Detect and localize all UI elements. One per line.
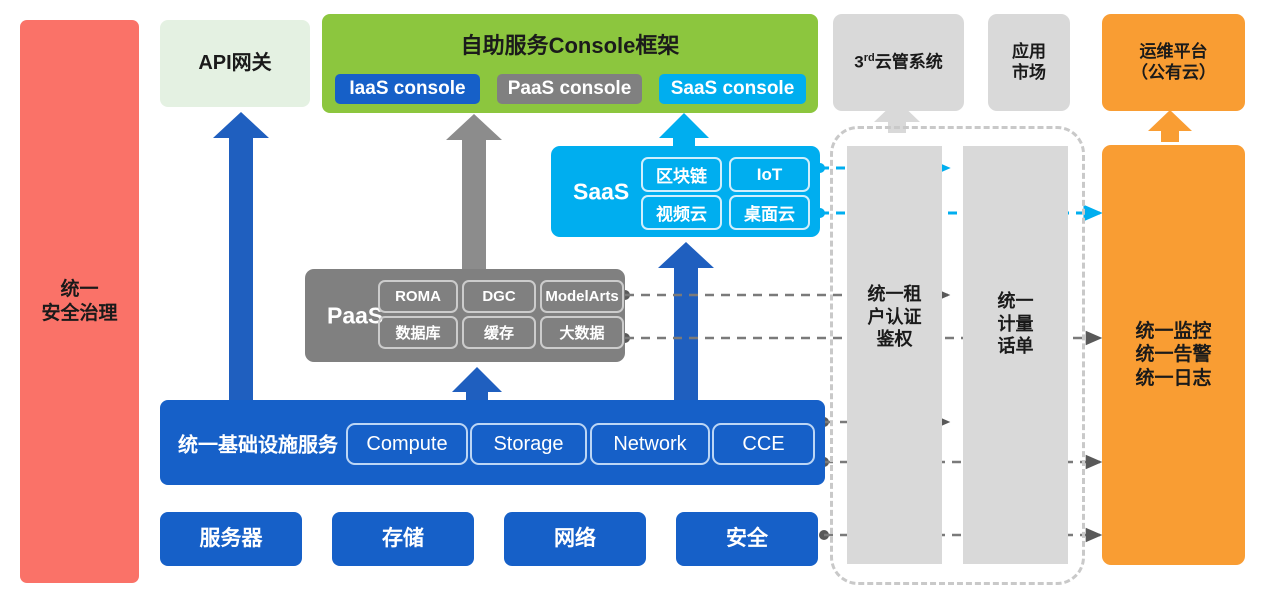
third-party-prefix: 3: [854, 52, 863, 71]
resource-box-network[interactable]: 网络: [504, 512, 646, 566]
app-market-line2: 市场: [1012, 63, 1046, 84]
arrow-saas-to-console: [659, 113, 709, 148]
saas-chip-video-cloud-label: 视频云: [656, 200, 707, 225]
app-market-box[interactable]: 应用 市场: [988, 14, 1070, 111]
infra-chip-storage-label: Storage: [493, 433, 563, 456]
paas-chip-modelarts-label: ModelArts: [545, 288, 618, 305]
unified-metering-line1: 统一: [963, 290, 1068, 313]
paas-chip-database-label: 数据库: [395, 322, 440, 343]
unified-infrastructure-label: 统一基础设施服务: [178, 428, 338, 457]
arrow-infra-to-saas: [658, 242, 714, 405]
paas-chip-database[interactable]: 数据库: [378, 316, 458, 349]
third-party-suffix: 云管系统: [875, 52, 943, 71]
resource-box-server[interactable]: 服务器: [160, 512, 302, 566]
self-service-console-frame: 自助服务Console框架 IaaS console PaaS console …: [322, 14, 818, 113]
ops-platform-line1: 运维平台: [1140, 42, 1208, 63]
iaas-console-label: IaaS console: [349, 78, 465, 100]
security-governance-line1: 统一: [60, 278, 98, 301]
saas-chip-iot[interactable]: IoT: [729, 157, 810, 192]
saas-chip-video-cloud[interactable]: 视频云: [641, 195, 722, 230]
unified-tenant-auth-line1: 统一租: [847, 283, 942, 306]
resource-server-label: 服务器: [200, 526, 263, 552]
saas-chip-blockchain[interactable]: 区块链: [641, 157, 722, 192]
unified-ops-column[interactable]: 统一监控 统一告警 统一日志: [1102, 145, 1245, 565]
paas-console-label: PaaS console: [508, 78, 632, 100]
paas-layer-label: PaaS: [327, 302, 383, 329]
paas-chip-roma-label: ROMA: [395, 288, 441, 305]
resource-box-storage[interactable]: 存储: [332, 512, 474, 566]
unified-ops-line2: 统一告警: [1135, 343, 1211, 366]
paas-console-pill[interactable]: PaaS console: [497, 74, 642, 104]
app-market-line1: 应用: [1012, 42, 1046, 63]
infra-chip-cce-label: CCE: [742, 433, 784, 456]
arrow-infra-to-apigw: [213, 112, 269, 405]
saas-console-label: SaaS console: [671, 78, 795, 100]
api-gateway-label: API网关: [198, 51, 271, 75]
saas-layer-label: SaaS: [573, 178, 629, 205]
infra-chip-compute[interactable]: Compute: [346, 423, 468, 465]
architecture-diagram: 统一 安全治理 API网关 自助服务Console框架 IaaS console…: [0, 0, 1265, 605]
unified-tenant-auth-line2: 户认证: [847, 306, 942, 329]
paas-chip-dgc[interactable]: DGC: [462, 280, 536, 313]
paas-chip-roma[interactable]: ROMA: [378, 280, 458, 313]
paas-chip-modelarts[interactable]: ModelArts: [540, 280, 624, 313]
saas-console-pill[interactable]: SaaS console: [659, 74, 806, 104]
saas-chip-blockchain-label: 区块链: [656, 162, 707, 187]
console-frame-title: 自助服务Console框架: [322, 28, 818, 60]
unified-metering-billing-label: 统一 计量 话单: [963, 290, 1068, 358]
ops-platform-line2: （公有云）: [1131, 63, 1216, 84]
ops-platform-public-cloud-box[interactable]: 运维平台 （公有云）: [1102, 14, 1245, 111]
infra-chip-compute-label: Compute: [366, 433, 447, 456]
unified-ops-line3: 统一日志: [1135, 367, 1211, 390]
third-party-cloud-mgmt-box[interactable]: 3rd云管系统: [833, 14, 964, 111]
paas-chip-cache[interactable]: 缓存: [462, 316, 536, 349]
resource-box-security[interactable]: 安全: [676, 512, 818, 566]
unified-tenant-auth-column[interactable]: [847, 146, 942, 564]
infra-chip-cce[interactable]: CCE: [712, 423, 815, 465]
third-party-sup: rd: [864, 52, 875, 64]
paas-chip-bigdata-label: 大数据: [559, 322, 604, 343]
resource-network-label: 网络: [554, 526, 596, 552]
security-governance-line2: 安全治理: [41, 302, 117, 325]
resource-storage-label: 存储: [382, 526, 424, 552]
unified-metering-line2: 计量: [963, 313, 1068, 336]
infra-chip-network[interactable]: Network: [590, 423, 710, 465]
unified-ops-line1: 统一监控: [1135, 320, 1211, 343]
security-governance-column: 统一 安全治理: [20, 20, 139, 583]
paas-chip-cache-label: 缓存: [484, 322, 514, 343]
arrow-opscolumn-to-opsplatform: [1148, 110, 1192, 142]
resource-security-label: 安全: [726, 526, 768, 552]
third-party-cloud-mgmt-label: 3rd云管系统: [854, 52, 942, 73]
saas-layer-box: SaaS 区块链 IoT 视频云 桌面云: [551, 146, 820, 237]
paas-layer-box: PaaS ROMA DGC ModelArts 数据库 缓存 大数据: [305, 269, 625, 362]
unified-tenant-auth-label: 统一租 户认证 鉴权: [847, 283, 942, 351]
unified-tenant-auth-line3: 鉴权: [847, 328, 942, 351]
api-gateway-box[interactable]: API网关: [160, 20, 310, 107]
unified-metering-line3: 话单: [963, 335, 1068, 358]
paas-chip-dgc-label: DGC: [482, 288, 515, 305]
saas-chip-iot-label: IoT: [757, 165, 783, 185]
unified-infrastructure-box: 统一基础设施服务 Compute Storage Network CCE: [160, 400, 825, 485]
saas-chip-desktop-cloud-label: 桌面云: [744, 200, 795, 225]
infra-chip-network-label: Network: [613, 433, 686, 456]
saas-chip-desktop-cloud[interactable]: 桌面云: [729, 195, 810, 230]
iaas-console-pill[interactable]: IaaS console: [335, 74, 480, 104]
infra-chip-storage[interactable]: Storage: [470, 423, 587, 465]
arrow-paas-to-console: [446, 114, 502, 272]
paas-chip-bigdata[interactable]: 大数据: [540, 316, 624, 349]
